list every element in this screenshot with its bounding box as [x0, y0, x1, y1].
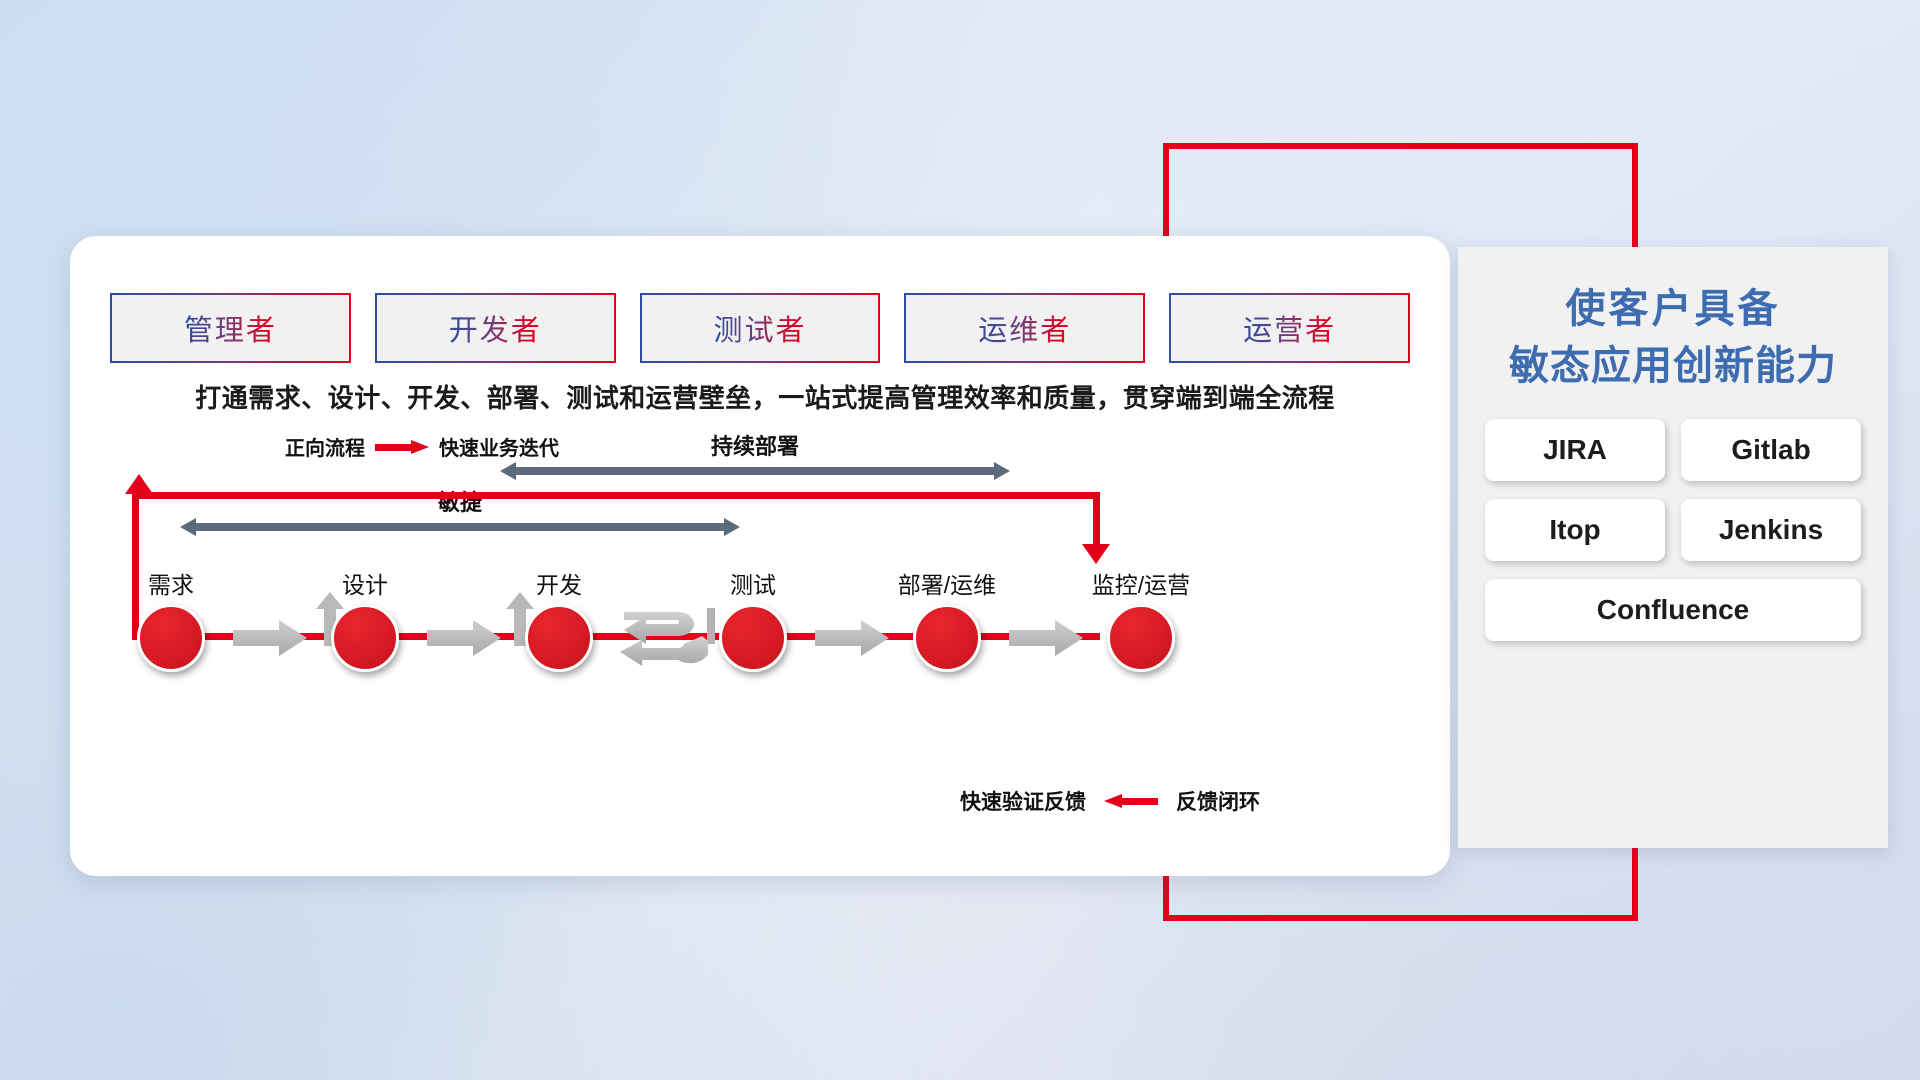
- pipeline-node-design[interactable]: 设计: [310, 566, 420, 672]
- right-arrow-icon: [375, 440, 429, 454]
- block-arrow-right-icon: [427, 618, 501, 658]
- pipeline-node-test[interactable]: 测试: [698, 566, 808, 672]
- tool-chip-list: JIRA Gitlab Itop Jenkins Confluence: [1474, 419, 1872, 641]
- panel-title-line-1: 使客户具备: [1458, 281, 1888, 338]
- left-arrow-icon: [1104, 794, 1158, 808]
- role-label: 管理者: [184, 307, 277, 349]
- pipeline-node-monitor-operate[interactable]: 监控/运营: [1086, 566, 1196, 672]
- pipeline-node-dot-icon: [913, 604, 981, 672]
- outer-bracket-bottom-segment: [1163, 915, 1638, 921]
- role-label: 运维者: [978, 307, 1071, 349]
- pipeline-node-dot-icon: [719, 604, 787, 672]
- block-arrow-right-icon: [233, 618, 307, 658]
- pipeline-node-dot-icon: [525, 604, 593, 672]
- role-box-ops-engineer[interactable]: 运维者: [904, 293, 1145, 363]
- tool-chip-itop[interactable]: Itop: [1485, 499, 1665, 561]
- pipeline-node-dot-icon: [137, 604, 205, 672]
- feedback-annotation: 快速验证反馈 反馈闭环: [960, 786, 1260, 816]
- tool-chip-confluence[interactable]: Confluence: [1485, 579, 1861, 641]
- pipeline-node-dot-icon: [1107, 604, 1175, 672]
- outer-bracket-top-segment: [1163, 143, 1638, 149]
- pipeline-node-label: 测试: [698, 566, 808, 600]
- role-box-tester[interactable]: 测试者: [640, 293, 881, 363]
- tool-chip-jenkins[interactable]: Jenkins: [1681, 499, 1861, 561]
- continuous-deploy-double-arrow-icon: [500, 462, 1010, 480]
- loop-top-segment: [132, 492, 1100, 499]
- delivery-pipeline: 需求 设计 开发: [110, 566, 1420, 676]
- continuous-deploy-caption: 持续部署: [500, 429, 1010, 461]
- description-text: 打通需求、设计、开发、部署、测试和运营壁垒，一站式提高管理效率和质量，贯穿端到端…: [110, 378, 1420, 415]
- feedback-right-label: 反馈闭环: [1176, 786, 1260, 816]
- tool-chip-gitlab[interactable]: Gitlab: [1681, 419, 1861, 481]
- pipeline-node-dot-icon: [331, 604, 399, 672]
- loop-back-arrow-icon: [616, 610, 708, 666]
- role-label: 运营者: [1243, 307, 1336, 349]
- pipeline-node-label: 需求: [116, 566, 226, 600]
- pipeline-node-label: 监控/运营: [1086, 566, 1196, 600]
- pipeline-node-deploy-ops[interactable]: 部署/运维: [892, 566, 1002, 672]
- panel-title: 使客户具备 敏态应用创新能力: [1458, 281, 1888, 395]
- pipeline-node-develop[interactable]: 开发: [504, 566, 614, 672]
- role-label: 开发者: [449, 307, 542, 349]
- pipeline-node-requirement[interactable]: 需求: [116, 566, 226, 672]
- tool-chip-jira[interactable]: JIRA: [1485, 419, 1665, 481]
- outer-bracket-top-left-segment: [1163, 143, 1169, 248]
- panel-title-line-2: 敏态应用创新能力: [1458, 338, 1888, 395]
- loop-up-arrowhead-icon: [125, 474, 153, 494]
- role-box-row: 管理者 开发者 测试者 运维者 运营者: [110, 293, 1410, 363]
- slide-canvas: 管理者 开发者 测试者 运维者 运营者 打通需求、设计、开发、部署、测试和运营壁…: [0, 0, 1920, 1080]
- role-box-developer[interactable]: 开发者: [375, 293, 616, 363]
- role-box-manager[interactable]: 管理者: [110, 293, 351, 363]
- value-proposition-panel: 使客户具备 敏态应用创新能力 JIRA Gitlab Itop Jenkins …: [1458, 247, 1888, 848]
- pipeline-node-label: 设计: [310, 566, 420, 600]
- loop-down-arrowhead-icon: [1082, 544, 1110, 564]
- role-box-operator[interactable]: 运营者: [1169, 293, 1410, 363]
- pipeline-node-label: 开发: [504, 566, 614, 600]
- pipeline-node-label: 部署/运维: [892, 566, 1002, 600]
- role-label: 测试者: [713, 307, 806, 349]
- loop-right-segment: [1093, 492, 1100, 550]
- block-arrow-right-icon: [1009, 618, 1083, 658]
- feedback-left-label: 快速验证反馈: [960, 786, 1086, 816]
- devops-overview-card: 管理者 开发者 测试者 运维者 运营者 打通需求、设计、开发、部署、测试和运营壁…: [70, 236, 1450, 876]
- block-arrow-right-icon: [815, 618, 889, 658]
- forward-flow-left-label: 正向流程: [285, 432, 365, 461]
